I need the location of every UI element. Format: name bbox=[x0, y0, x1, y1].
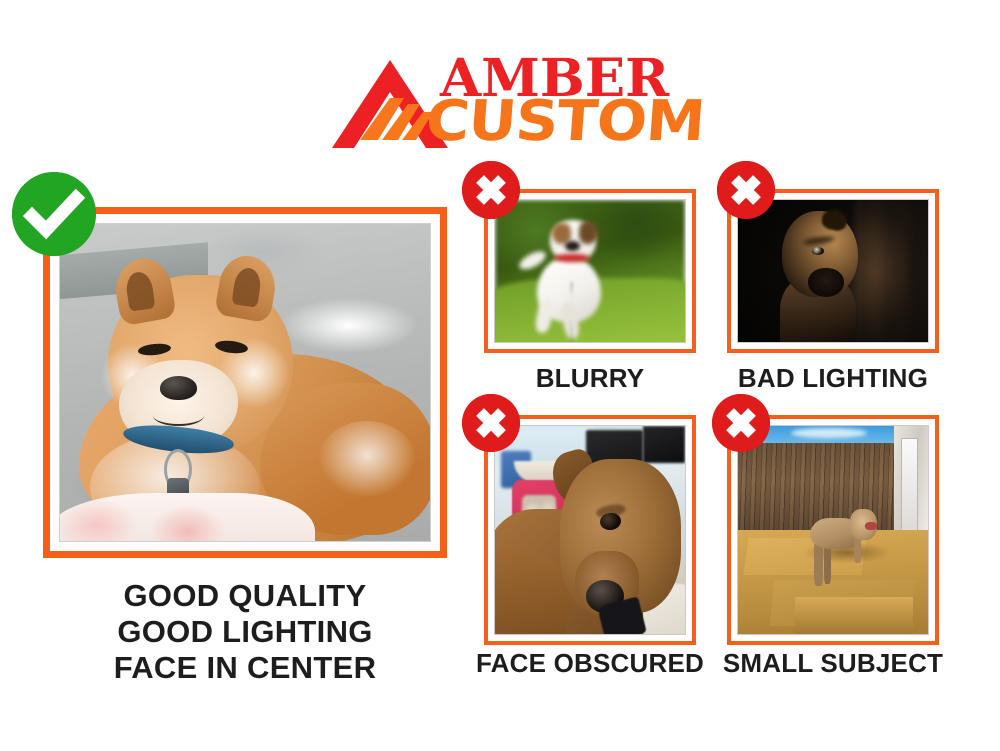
bad-example-caption-face-obscured: FACE OBSCURED bbox=[472, 648, 708, 678]
dog-nose bbox=[160, 376, 197, 400]
check-badge bbox=[12, 172, 96, 256]
caption-line-2: GOOD LIGHTING bbox=[0, 614, 490, 650]
bulldog-patio-scene bbox=[738, 426, 928, 634]
caption-line-1: GOOD QUALITY bbox=[0, 578, 490, 614]
x-badge-blurry bbox=[462, 161, 520, 219]
dog-head-patch-right bbox=[579, 221, 598, 244]
good-example-card[interactable] bbox=[43, 207, 447, 558]
bad-example-caption-bad-lighting: BAD LIGHTING bbox=[715, 363, 951, 393]
shiba-inu-scene bbox=[60, 224, 430, 541]
obscured-dog-scene bbox=[495, 426, 685, 634]
bad-example-caption-blurry: BLURRY bbox=[484, 363, 696, 393]
jack-russell-scene bbox=[495, 200, 685, 342]
dog-mouth bbox=[865, 522, 876, 530]
dark-appliance-2 bbox=[643, 426, 685, 463]
dog-hip-white bbox=[319, 421, 415, 497]
brand-wordmark: AMBER CUSTOM bbox=[428, 50, 718, 160]
x-badge-bad-lighting bbox=[717, 161, 775, 219]
grass-blades bbox=[571, 282, 681, 342]
caption-line-3: FACE IN CENTER bbox=[0, 650, 490, 686]
good-example-caption: GOOD QUALITY GOOD LIGHTING FACE IN CENTE… bbox=[0, 578, 490, 686]
bad-example-photo-blurry bbox=[494, 199, 686, 343]
x-badge-small-subject bbox=[712, 394, 770, 452]
good-example-photo bbox=[59, 223, 431, 542]
bad-example-photo-bad-lighting bbox=[737, 199, 929, 343]
bad-example-caption-small-subject: SMALL SUBJECT bbox=[715, 648, 951, 678]
bad-example-photo-small-subject bbox=[737, 425, 929, 635]
brand-logo: AMBER CUSTOM bbox=[330, 50, 710, 160]
patio-step bbox=[795, 597, 913, 635]
x-badge-face-obscured bbox=[462, 394, 520, 452]
dog-rear-leg-2 bbox=[824, 542, 832, 584]
bad-example-photo-face-obscured bbox=[494, 425, 686, 635]
brand-name-custom: CUSTOM bbox=[424, 94, 706, 150]
dark-pug-scene bbox=[738, 200, 928, 342]
vignette bbox=[738, 200, 928, 342]
dog-mouth bbox=[153, 405, 205, 426]
blanket bbox=[59, 493, 315, 542]
